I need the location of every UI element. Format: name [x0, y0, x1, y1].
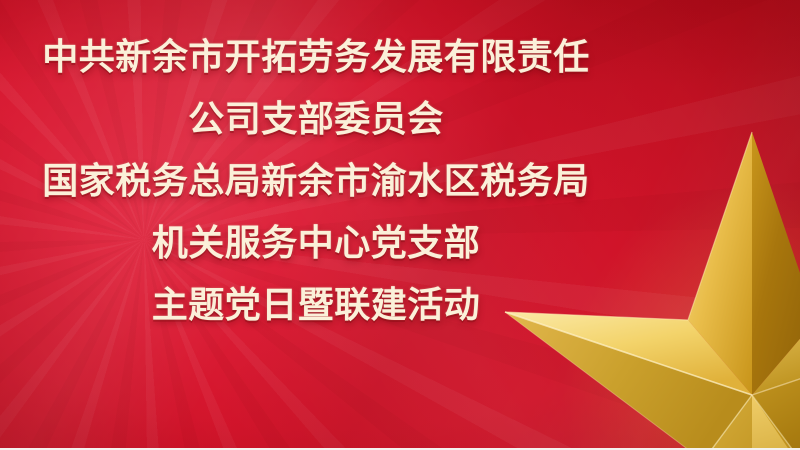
title-line-4: 机关服务中心党支部 — [0, 226, 632, 262]
title-line-1: 中共新余市开拓劳务发展有限责任 — [0, 40, 632, 76]
banner-title-block: 中共新余市开拓劳务发展有限责任 公司支部委员会 国家税务总局新余市渝水区税务局 … — [0, 40, 632, 324]
title-line-2: 公司支部委员会 — [0, 102, 632, 138]
title-line-3: 国家税务总局新余市渝水区税务局 — [0, 164, 632, 200]
title-line-5: 主题党日暨联建活动 — [0, 288, 632, 324]
party-event-banner: 中共新余市开拓劳务发展有限责任 公司支部委员会 国家税务总局新余市渝水区税务局 … — [0, 0, 800, 450]
